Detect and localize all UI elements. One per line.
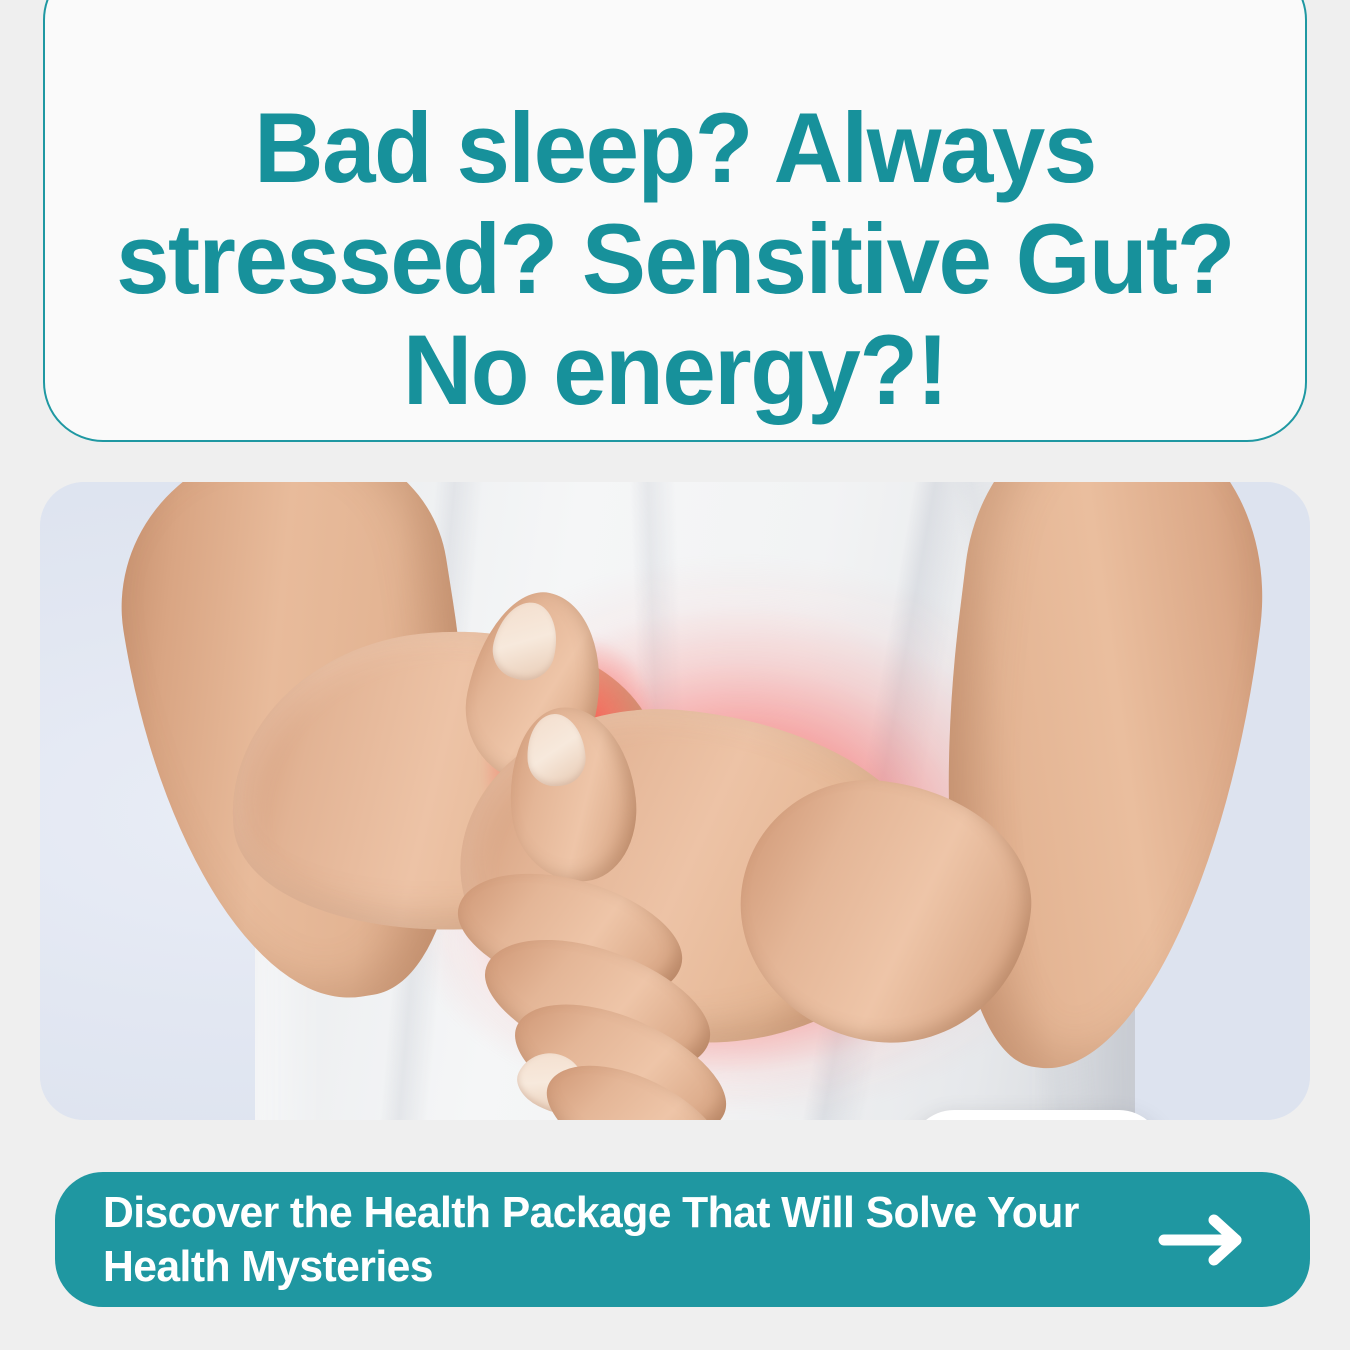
headline-card: Bad sleep? Always stressed? Sensitive Gu…: [43, 0, 1307, 442]
cta-label: Discover the Health Package That Will So…: [103, 1186, 1124, 1293]
photo-backdrop: In Pain In Pain: [40, 482, 1310, 1120]
badge-in-pain-upper-right[interactable]: In Pain: [910, 1110, 1163, 1120]
arrow-right-icon: [1156, 1210, 1252, 1270]
hero-photo: In Pain In Pain: [40, 482, 1310, 1120]
headline-text: Bad sleep? Always stressed? Sensitive Gu…: [108, 93, 1243, 426]
ad-root: Bad sleep? Always stressed? Sensitive Gu…: [0, 0, 1350, 1350]
cta-button[interactable]: Discover the Health Package That Will So…: [55, 1172, 1310, 1307]
